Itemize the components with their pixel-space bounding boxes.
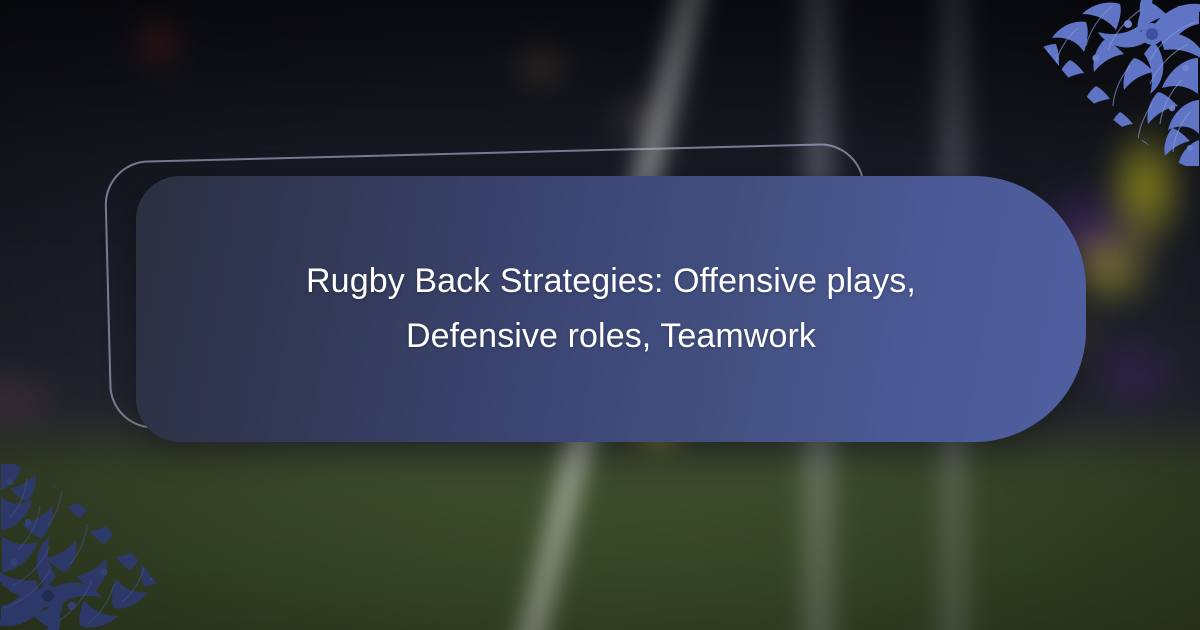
damask-corner-ornament-top-right [1000,0,1200,170]
banner-canvas: Rugby Back Strategies: Offensive plays, … [0,0,1200,630]
damask-corner-ornament-bottom-left [0,460,200,630]
page-title: Rugby Back Strategies: Offensive plays, … [261,254,961,364]
title-card: Rugby Back Strategies: Offensive plays, … [136,176,1086,442]
